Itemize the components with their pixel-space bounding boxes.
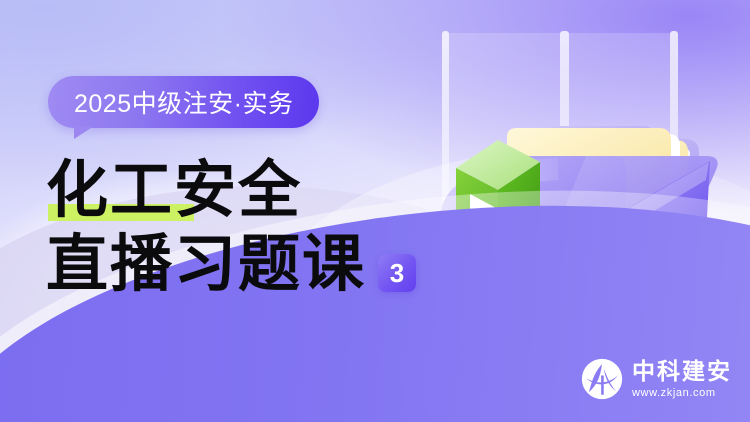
episode-number-badge: 3 (378, 254, 416, 292)
brand-logo-icon (581, 358, 623, 400)
brand-logo: 中科建安 www.zkjan.com (581, 358, 732, 400)
course-title-secondary: 直播习题课 (46, 230, 366, 298)
headline-line-1: 化工安全 (46, 152, 416, 224)
course-banner: 2025中级注安·实务 化工安全 直播习题课 3 中科建安 www.zkjan.… (0, 0, 750, 422)
brand-logo-text: 中科建安 www.zkjan.com (632, 359, 732, 400)
headline-group: 化工安全 直播习题课 3 (46, 152, 416, 298)
course-title-primary: 化工安全 (46, 156, 302, 224)
brand-name: 中科建安 (632, 359, 732, 384)
brand-website: www.zkjan.com (632, 386, 732, 400)
headline-line-2: 直播习题课 3 (46, 226, 416, 298)
course-category-badge: 2025中级注安·实务 (48, 76, 319, 128)
badge-tail (74, 126, 94, 139)
course-category-label: 2025中级注安·实务 (74, 84, 293, 120)
